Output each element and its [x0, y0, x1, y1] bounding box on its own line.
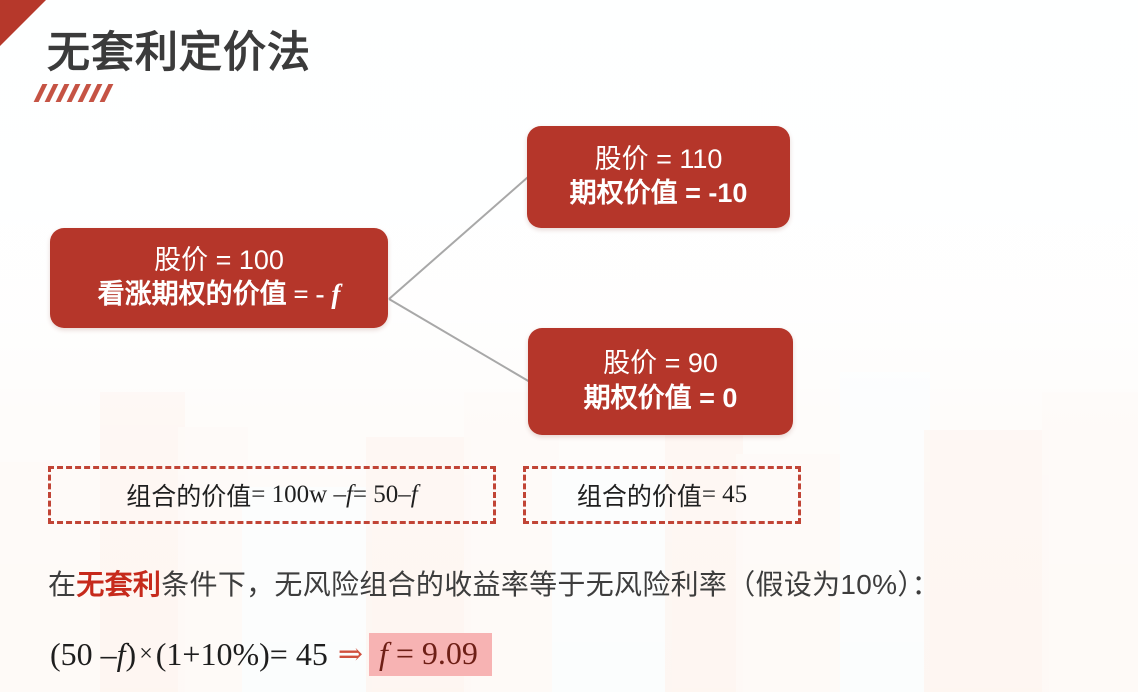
equation-result: f = 9.09 — [369, 633, 492, 676]
building-10 — [840, 372, 930, 692]
equation-result-value: = 9.09 — [388, 635, 478, 671]
equation-implies-arrow: ⇒ — [338, 637, 363, 672]
portfolio-left-expr-b: = 50– — [353, 481, 411, 509]
connector-up — [389, 177, 528, 299]
portfolio-right-label: 组合的价值 — [577, 477, 702, 513]
equation-lhs-close: ) — [126, 636, 137, 673]
node-root: 股价 = 100 看涨期权的价值 = - f — [50, 228, 388, 328]
portfolio-left-label: 组合的价值 — [126, 477, 251, 513]
building-8 — [665, 407, 743, 692]
slide-canvas: 无套利定价法 股价 = 100 看涨期权的价值 = - f 股价 = 110 期… — [0, 0, 1138, 692]
equation-times-symbol: × — [136, 641, 156, 668]
node-root-line2-eq: = - — [287, 279, 332, 309]
title-slash-decoration — [38, 84, 109, 102]
building-12 — [1042, 392, 1138, 692]
node-down-line2: 期权价值 = 0 — [584, 381, 738, 416]
node-up: 股价 = 110 期权价值 = -10 — [527, 126, 790, 228]
statement-pre: 在 — [48, 569, 76, 600]
portfolio-left-var-a: f — [346, 481, 353, 509]
corner-triangle-decoration — [0, 0, 46, 46]
node-up-line2: 期权价值 = -10 — [570, 176, 748, 211]
page-title: 无套利定价法 — [47, 18, 311, 80]
node-root-line2-var: f — [331, 279, 340, 309]
statement-highlight: 无套利 — [76, 569, 161, 600]
statement-post: 条件下，无风险组合的收益率等于无风险利率（假设为10%）： — [161, 569, 940, 600]
node-up-line1: 股价 = 110 — [595, 143, 723, 177]
node-root-line2: 看涨期权的价值 = - f — [98, 277, 341, 312]
equation-lhs-open: (50 – — [50, 636, 117, 673]
portfolio-left-var-b: f — [411, 481, 418, 509]
equation-lhs-var: f — [117, 636, 126, 673]
node-down: 股价 = 90 期权价值 = 0 — [528, 328, 793, 435]
portfolio-value-right: 组合的价值 = 45 — [523, 466, 801, 524]
node-root-line1: 股价 = 100 — [154, 244, 284, 278]
portfolio-left-expr-a: = 100w – — [251, 481, 346, 509]
building-11 — [924, 430, 1049, 692]
slash-mark — [100, 84, 114, 102]
equation-factor: (1+10%) — [156, 636, 270, 673]
final-equation: (50 – f)×(1+10%) = 45⇒f = 9.09 — [50, 633, 492, 676]
statement-line: 在无套利条件下，无风险组合的收益率等于无风险利率（假设为10%）： — [48, 563, 940, 603]
equation-result-var: f — [379, 635, 388, 671]
node-down-line1: 股价 = 90 — [603, 347, 718, 381]
equation-equals: = 45 — [270, 636, 328, 673]
portfolio-value-left: 组合的价值 = 100w – f = 50–f — [48, 466, 496, 524]
connector-down — [389, 299, 530, 382]
node-root-line2-label: 看涨期权的价值 — [98, 279, 287, 309]
portfolio-right-value: = 45 — [702, 481, 747, 509]
